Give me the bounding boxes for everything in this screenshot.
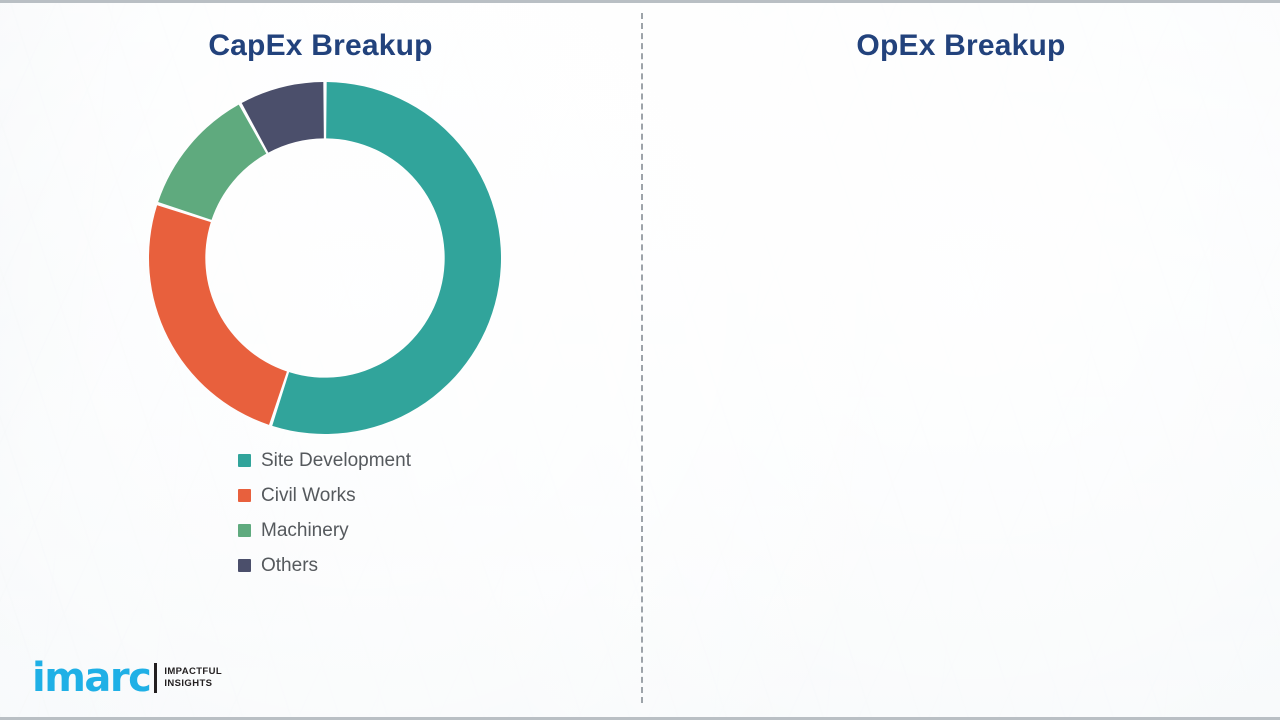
capex-panel: CapEx Breakup Site DevelopmentCivil Work…: [0, 3, 641, 723]
capex-legend-item: Civil Works: [238, 486, 411, 505]
legend-item-label: Others: [261, 556, 318, 575]
slide-canvas: CapEx Breakup Site DevelopmentCivil Work…: [0, 0, 1280, 720]
capex-donut-chart: [145, 78, 505, 438]
legend-swatch-icon: [238, 454, 251, 467]
opex-panel: OpEx Breakup Raw MaterialsSalaries and W…: [642, 3, 1280, 723]
imarc-logo: imarc IMPACTFUL INSIGHTS: [32, 655, 222, 701]
capex-chart-title: CapEx Breakup: [0, 29, 641, 63]
capex-slice-civil-works: [149, 205, 287, 425]
capex-slice-machinery: [158, 105, 266, 220]
imarc-logo-wordmark: imarc: [32, 658, 150, 698]
capex-legend-item: Machinery: [238, 521, 411, 540]
imarc-logo-tagline: IMPACTFUL INSIGHTS: [164, 666, 222, 690]
legend-item-label: Site Development: [261, 451, 411, 470]
capex-legend: Site DevelopmentCivil WorksMachineryOthe…: [238, 451, 411, 591]
legend-swatch-icon: [238, 489, 251, 502]
opex-chart-title: OpEx Breakup: [642, 29, 1280, 63]
legend-swatch-icon: [238, 524, 251, 537]
legend-item-label: Civil Works: [261, 486, 356, 505]
capex-legend-item: Others: [238, 556, 411, 575]
tagline-line-1: IMPACTFUL: [164, 666, 222, 678]
legend-swatch-icon: [238, 559, 251, 572]
legend-item-label: Machinery: [261, 521, 349, 540]
capex-legend-item: Site Development: [238, 451, 411, 470]
capex-donut-svg: [145, 78, 505, 438]
logo-separator-bar: [154, 663, 157, 693]
tagline-line-2: INSIGHTS: [164, 678, 222, 690]
